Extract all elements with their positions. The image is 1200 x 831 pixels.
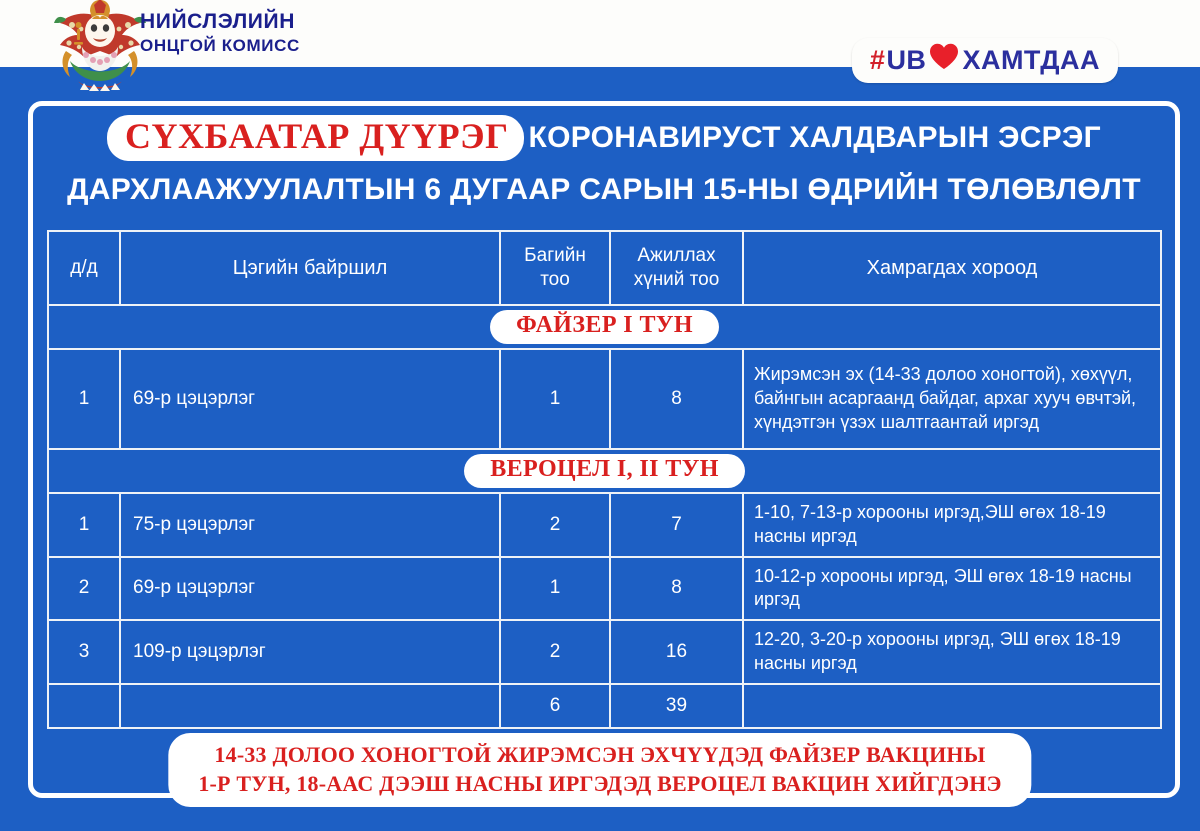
- cell-areas: 10-12-р хорооны иргэд, ЭШ өгөх 18-19 нас…: [743, 557, 1161, 621]
- cell-index: 3: [48, 620, 120, 684]
- vaccination-plan-table: д/д Цэгийн байршил Багийн тоо Ажиллах хү…: [47, 230, 1162, 729]
- ulaanbaatar-coat-of-arms-emblem-icon: [48, 0, 152, 95]
- table-row: 1 75-р цэцэрлэг 2 7 1-10, 7-13-р хорооны…: [48, 493, 1161, 557]
- title-line-1-rest: КОРОНАВИРУСТ ХАЛДВАРЫН ЭСРЭГ: [528, 121, 1100, 155]
- heart-icon: [929, 43, 959, 77]
- table-header-row: д/д Цэгийн байршил Багийн тоо Ажиллах хү…: [48, 231, 1161, 305]
- brand-text: НИЙСЛЭЛИЙН ОНЦГОЙ КОМИСС: [140, 9, 300, 57]
- cell-areas: 1-10, 7-13-р хорооны иргэд,ЭШ өгөх 18-19…: [743, 493, 1161, 557]
- table-body: ФАЙЗЕР I ТУН 1 69-р цэцэрлэг 1 8 Жирэмсэ…: [48, 305, 1161, 728]
- hashtag-tail-text: ХАМТДАА: [962, 45, 1100, 76]
- page-title: СҮХБААТАР ДҮҮРЭГ КОРОНАВИРУСТ ХАЛДВАРЫН …: [28, 115, 1180, 207]
- cell-people: 8: [610, 557, 743, 621]
- cell-index: 2: [48, 557, 120, 621]
- column-header-location: Цэгийн байршил: [120, 231, 500, 305]
- section-header-cell-pfizer: ФАЙЗЕР I ТУН: [48, 305, 1161, 349]
- cell-index: 1: [48, 349, 120, 449]
- table-head: д/д Цэгийн байршил Багийн тоо Ажиллах хү…: [48, 231, 1161, 305]
- total-cell-people: 39: [610, 684, 743, 728]
- footer-note-banner: 14-33 ДОЛОО ХОНОГТОЙ ЖИРЭМСЭН ЭХЧҮҮДЭД Ф…: [168, 733, 1031, 807]
- cell-areas: Жирэмсэн эх (14-33 долоо хоногтой), хөхү…: [743, 349, 1161, 449]
- footer-note-line-2: 1-Р ТУН, 18-ААС ДЭЭШ НАСНЫ ИРГЭДЭД ВЕРОЦ…: [198, 769, 1001, 798]
- column-header-people: Ажиллах хүний тоо: [610, 231, 743, 305]
- footer-note-line-1: 14-33 ДОЛОО ХОНОГТОЙ ЖИРЭМСЭН ЭХЧҮҮДЭД Ф…: [198, 740, 1001, 769]
- cell-index: 1: [48, 493, 120, 557]
- column-header-areas: Хамрагдах хороод: [743, 231, 1161, 305]
- total-cell-index: [48, 684, 120, 728]
- table-row: 1 69-р цэцэрлэг 1 8 Жирэмсэн эх (14-33 д…: [48, 349, 1161, 449]
- hashtag-ub-text: UB: [886, 45, 926, 76]
- cell-teams: 2: [500, 620, 610, 684]
- cell-people: 16: [610, 620, 743, 684]
- section-header-row-pfizer: ФАЙЗЕР I ТУН: [48, 305, 1161, 349]
- poster-root: НИЙСЛЭЛИЙН ОНЦГОЙ КОМИСС # UB ХАМТДАА СҮ…: [0, 0, 1200, 831]
- hash-symbol: #: [870, 45, 886, 76]
- vaccination-plan-table-wrap: д/д Цэгийн байршил Багийн тоо Ажиллах хү…: [47, 230, 1160, 729]
- total-cell-location: [120, 684, 500, 728]
- cell-teams: 2: [500, 493, 610, 557]
- cell-people: 7: [610, 493, 743, 557]
- section-pill-pfizer: ФАЙЗЕР I ТУН: [490, 310, 719, 344]
- table-row: 2 69-р цэцэрлэг 1 8 10-12-р хорооны иргэ…: [48, 557, 1161, 621]
- table-row: 3 109-р цэцэрлэг 2 16 12-20, 3-20-р хоро…: [48, 620, 1161, 684]
- cell-teams: 1: [500, 349, 610, 449]
- brand-line-1: НИЙСЛЭЛИЙН: [140, 9, 300, 35]
- table-totals-row: 6 39: [48, 684, 1161, 728]
- hashtag-badge: # UB ХАМТДАА: [852, 38, 1118, 83]
- cell-location: 109-р цэцэрлэг: [120, 620, 500, 684]
- cell-location: 69-р цэцэрлэг: [120, 349, 500, 449]
- cell-location: 75-р цэцэрлэг: [120, 493, 500, 557]
- section-pill-verocel: ВЕРОЦЕЛ I, II ТУН: [464, 454, 745, 488]
- total-cell-teams: 6: [500, 684, 610, 728]
- column-header-index: д/д: [48, 231, 120, 305]
- title-line-1: СҮХБААТАР ДҮҮРЭГ КОРОНАВИРУСТ ХАЛДВАРЫН …: [28, 115, 1180, 161]
- cell-people: 8: [610, 349, 743, 449]
- brand-line-2: ОНЦГОЙ КОМИСС: [140, 35, 300, 56]
- cell-areas: 12-20, 3-20-р хорооны иргэд, ЭШ өгөх 18-…: [743, 620, 1161, 684]
- section-header-cell-verocel: ВЕРОЦЕЛ I, II ТУН: [48, 449, 1161, 493]
- section-header-row-verocel: ВЕРОЦЕЛ I, II ТУН: [48, 449, 1161, 493]
- title-line-2: ДАРХЛААЖУУЛАЛТЫН 6 ДУГААР САРЫН 15-НЫ ӨД…: [28, 173, 1180, 207]
- district-name-pill: СҮХБААТАР ДҮҮРЭГ: [107, 115, 524, 161]
- cell-teams: 1: [500, 557, 610, 621]
- column-header-teams: Багийн тоо: [500, 231, 610, 305]
- total-cell-areas: [743, 684, 1161, 728]
- cell-location: 69-р цэцэрлэг: [120, 557, 500, 621]
